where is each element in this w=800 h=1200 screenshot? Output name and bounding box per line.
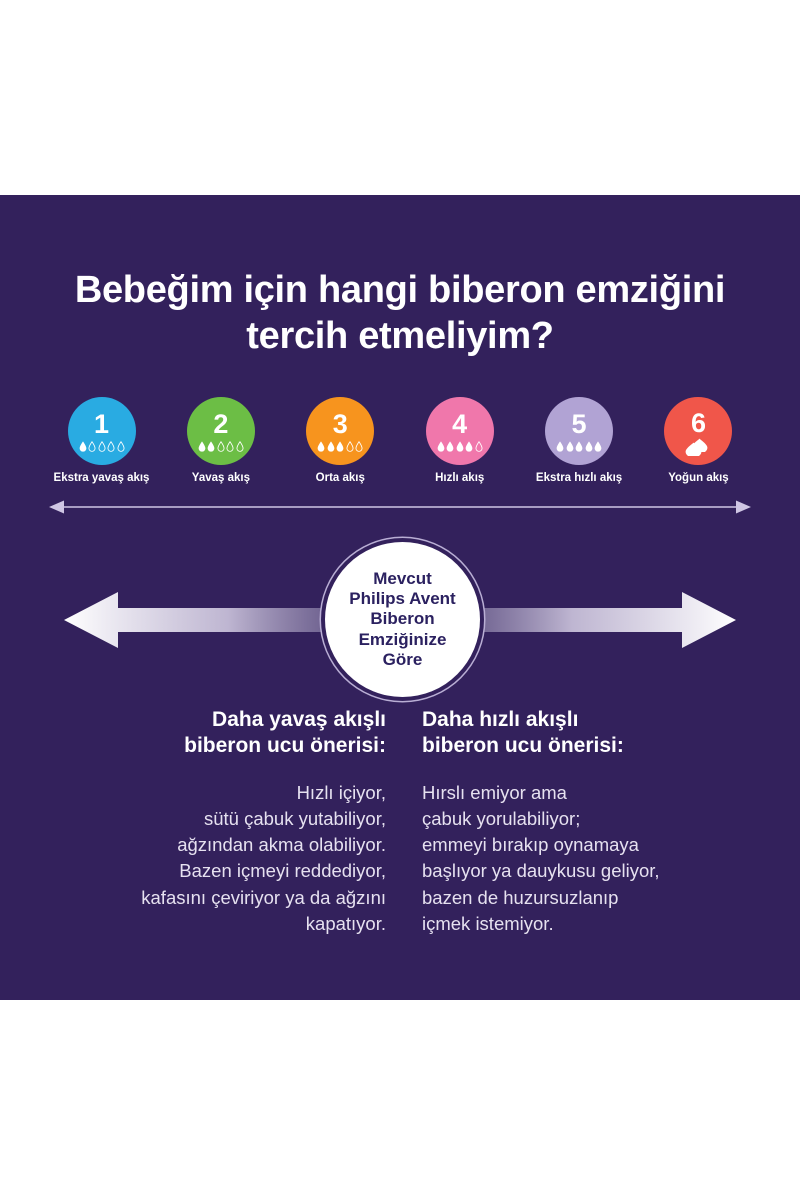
arrow-right xyxy=(438,592,736,648)
center-line-4: Emziğinize xyxy=(349,630,455,650)
flow-label-4: Hızlı akış xyxy=(435,472,484,485)
flow-item-1: 1Ekstra yavaş akış xyxy=(42,397,161,485)
column-right-body-line-4: başlıyor ya dauykusu geliyor, xyxy=(422,858,752,884)
droplet-icon-filled xyxy=(465,441,473,452)
flow-circle-4: 4 xyxy=(426,397,494,465)
droplet-icon-empty xyxy=(107,441,115,452)
droplet-icon-filled xyxy=(336,441,344,452)
droplet-icon-filled xyxy=(327,441,335,452)
flow-number-6: 6 xyxy=(691,411,706,437)
droplet-icon-empty xyxy=(236,441,244,452)
column-left-body-line-5: kafasını çeviriyor ya da ağzını xyxy=(56,885,386,911)
flow-number-5: 5 xyxy=(572,412,587,438)
column-left-body-line-3: ağzından akma olabiliyor. xyxy=(56,832,386,858)
column-right-heading-emphasis: hızlı xyxy=(479,708,520,731)
flow-label-5: Ekstra hızlı akış xyxy=(536,472,622,485)
title-line-1: Bebeğim için hangi biberon emziğini xyxy=(40,267,760,313)
column-left-body-line-4: Bazen içmeyi reddediyor, xyxy=(56,858,386,884)
droplet-icon-filled xyxy=(207,441,215,452)
column-right-heading-pre: Daha xyxy=(422,708,479,731)
title-line-2: tercih etmeliyim? xyxy=(40,313,760,359)
thick-blob-icon xyxy=(685,438,711,453)
droplet-row-3 xyxy=(317,439,363,452)
column-left-body: Hızlı içiyor,sütü çabuk yutabiliyor,ağzı… xyxy=(56,780,386,938)
flow-circle-5: 5 xyxy=(545,397,613,465)
recommendation-columns: Daha yavaş akışlı biberon ucu önerisi: H… xyxy=(56,707,752,937)
droplet-row-5 xyxy=(556,439,602,452)
center-badge-text: Mevcut Philips Avent Biberon Emziğinize … xyxy=(349,569,455,671)
droplet-row-1 xyxy=(79,439,125,452)
flow-number-1: 1 xyxy=(94,412,109,438)
center-line-3: Biberon xyxy=(349,609,455,629)
column-right-body-line-1: Hırslı emiyor ama xyxy=(422,780,752,806)
flow-label-1: Ekstra yavaş akış xyxy=(54,472,150,485)
column-left-heading: Daha yavaş akışlı biberon ucu önerisi: xyxy=(56,707,386,760)
purple-panel: Bebeğim için hangi biberon emziğini terc… xyxy=(0,195,800,1000)
infographic-page: Bebeğim için hangi biberon emziğini terc… xyxy=(0,0,800,1200)
droplet-icon-filled xyxy=(317,441,325,452)
droplet-icon-empty xyxy=(226,441,234,452)
flow-number-2: 2 xyxy=(213,412,228,438)
column-left-heading-line-1: Daha yavaş akışlı xyxy=(56,707,386,733)
center-line-5: Göre xyxy=(349,650,455,670)
flow-number-3: 3 xyxy=(333,412,348,438)
flow-item-4: 4Hızlı akış xyxy=(400,397,519,485)
column-left-heading-line-2: biberon ucu önerisi: xyxy=(56,733,386,759)
flow-label-2: Yavaş akış xyxy=(192,472,250,485)
droplet-icon-filled xyxy=(437,441,445,452)
page-title: Bebeğim için hangi biberon emziğini terc… xyxy=(40,267,760,360)
flow-number-4: 4 xyxy=(452,412,467,438)
flow-item-5: 5Ekstra hızlı akış xyxy=(520,397,639,485)
flow-scale-row: 1Ekstra yavaş akış2Yavaş akış3Orta akış4… xyxy=(42,397,758,502)
flow-scale-axis-arrow xyxy=(48,498,752,516)
droplet-row-2 xyxy=(198,439,244,452)
droplet-icon-filled xyxy=(198,441,206,452)
flow-circle-6: 6 xyxy=(664,397,732,465)
arrow-left xyxy=(64,592,362,648)
flow-circle-2: 2 xyxy=(187,397,255,465)
column-left-body-line-2: sütü çabuk yutabiliyor, xyxy=(56,806,386,832)
droplet-icon-filled xyxy=(575,441,583,452)
center-line-1: Mevcut xyxy=(349,569,455,589)
center-badge: Mevcut Philips Avent Biberon Emziğinize … xyxy=(325,542,480,697)
droplet-icon-filled xyxy=(556,441,564,452)
column-right-heading: Daha hızlı akışlı biberon ucu önerisi: xyxy=(422,707,752,760)
column-left-body-line-6: kapatıyor. xyxy=(56,911,386,937)
column-faster-flow: Daha hızlı akışlı biberon ucu önerisi: H… xyxy=(422,707,752,937)
droplet-icon-filled xyxy=(79,441,87,452)
column-right-heading-line-1: Daha hızlı akışlı xyxy=(422,707,752,733)
droplet-icon-empty xyxy=(475,441,483,452)
column-right-heading-line-2: biberon ucu önerisi: xyxy=(422,733,752,759)
droplet-icon-empty xyxy=(355,441,363,452)
droplet-icon-empty xyxy=(346,441,354,452)
column-right-body-line-3: emmeyi bırakıp oynamaya xyxy=(422,832,752,858)
droplet-icon-empty xyxy=(98,441,106,452)
column-slower-flow: Daha yavaş akışlı biberon ucu önerisi: H… xyxy=(56,707,386,937)
flow-circle-1: 1 xyxy=(68,397,136,465)
droplet-icon-filled xyxy=(585,441,593,452)
droplet-icon-filled xyxy=(446,441,454,452)
flow-label-6: Yoğun akış xyxy=(668,472,729,485)
droplet-row-4 xyxy=(437,439,483,452)
droplet-icon-empty xyxy=(117,441,125,452)
column-right-body: Hırslı emiyor amaçabuk yorulabiliyor;emm… xyxy=(422,780,752,938)
flow-item-6: 6Yoğun akış xyxy=(639,397,758,485)
column-right-body-line-2: çabuk yorulabiliyor; xyxy=(422,806,752,832)
droplet-icon-empty xyxy=(88,441,96,452)
column-right-body-line-6: içmek istemiyor. xyxy=(422,911,752,937)
flow-item-3: 3Orta akış xyxy=(281,397,400,485)
droplet-icon-filled xyxy=(566,441,574,452)
flow-circle-3: 3 xyxy=(306,397,374,465)
center-line-2: Philips Avent xyxy=(349,589,455,609)
column-left-body-line-1: Hızlı içiyor, xyxy=(56,780,386,806)
droplet-icon-filled xyxy=(594,441,602,452)
droplet-icon-empty xyxy=(217,441,225,452)
column-right-heading-post: akışlı xyxy=(520,708,578,731)
flow-label-3: Orta akış xyxy=(316,472,365,485)
flow-item-2: 2Yavaş akış xyxy=(161,397,280,485)
droplet-icon-filled xyxy=(456,441,464,452)
column-right-body-line-5: bazen de huzursuzlanıp xyxy=(422,885,752,911)
